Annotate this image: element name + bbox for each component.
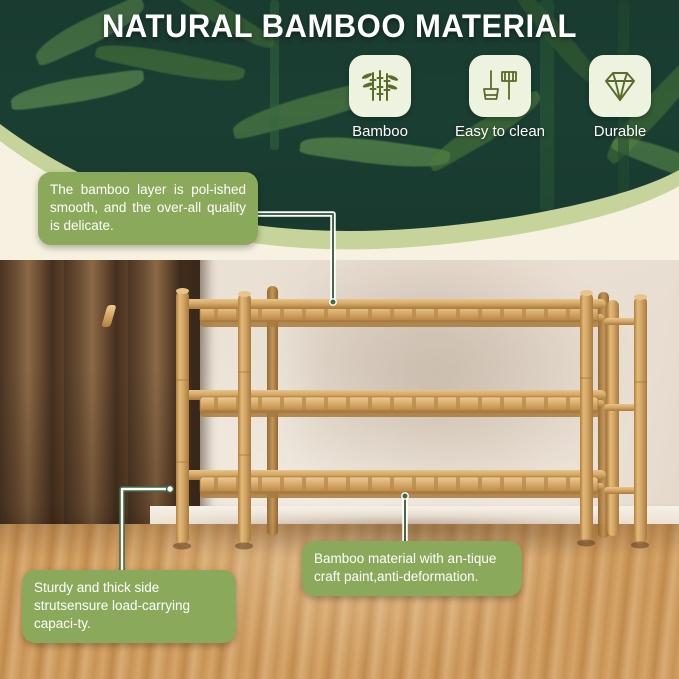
page-title: NATURAL BAMBOO MATERIAL (10, 8, 669, 45)
feature-label: Easy to clean (450, 123, 550, 140)
broom-icon (479, 65, 521, 107)
callout-bamboo-layer: The bamboo layer is pol-ished smooth, an… (38, 172, 258, 245)
callout-side-struts: Sturdy and thick side strutsensure load-… (22, 570, 236, 643)
durable-badge[interactable] (589, 55, 651, 117)
feature-label: Durable (570, 123, 670, 140)
feature-durable[interactable]: Durable (570, 55, 670, 140)
feature-badge-row: Bamboo (330, 55, 670, 140)
bamboo-icon (359, 65, 401, 107)
feature-easy-to-clean[interactable]: Easy to clean (450, 55, 550, 140)
right-depth-post (634, 296, 647, 544)
diamond-icon (599, 65, 641, 107)
easy-to-clean-badge[interactable] (469, 55, 531, 117)
feature-bamboo[interactable]: Bamboo (330, 55, 430, 140)
bamboo-badge[interactable] (349, 55, 411, 117)
product-feature-poster: NATURAL BAMBOO MATERIAL (0, 0, 679, 679)
right-front-post (580, 292, 593, 542)
callout-antique-craft-paint: Bamboo material with an-tique craft pain… (302, 541, 522, 596)
left-depth-post (238, 293, 251, 545)
feature-label: Bamboo (330, 123, 430, 140)
left-front-post (176, 290, 189, 545)
